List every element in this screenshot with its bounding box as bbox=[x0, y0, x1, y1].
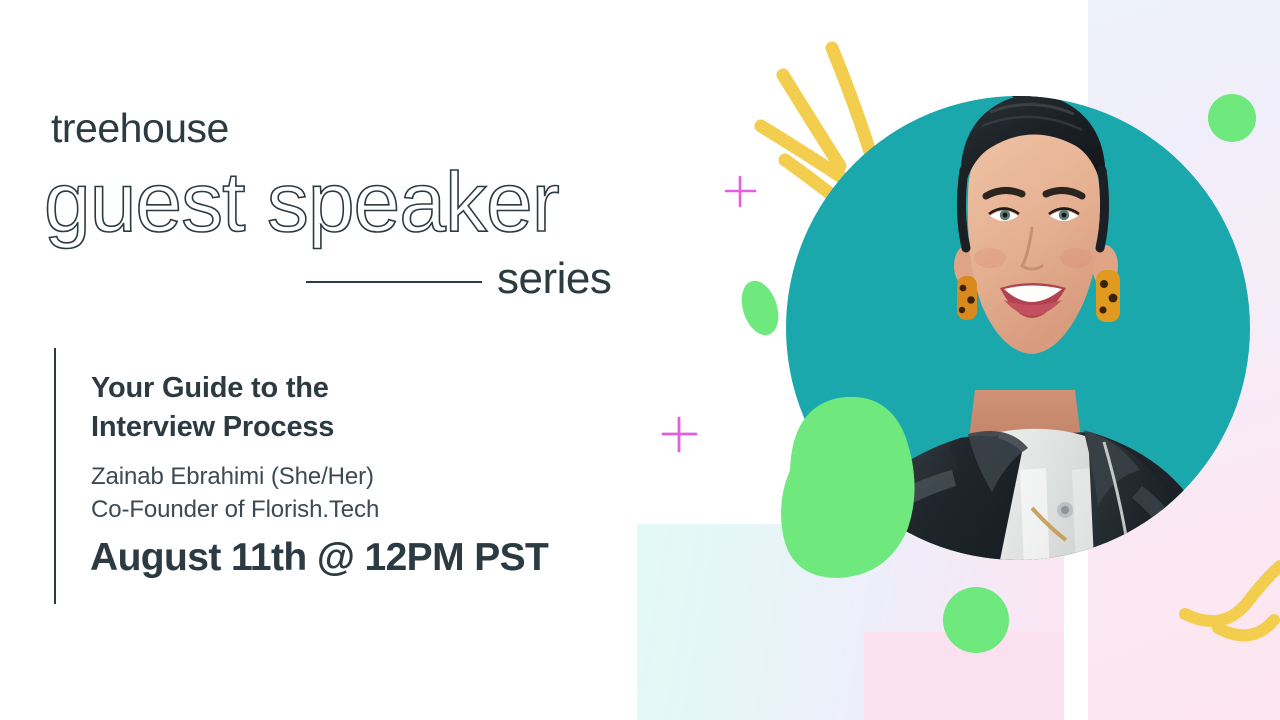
earring-left bbox=[957, 276, 977, 320]
yellow-ray-decor-top bbox=[761, 48, 872, 208]
vertical-accent-rule bbox=[54, 348, 56, 604]
speaker-name: Zainab Ebrahimi (She/Her) bbox=[91, 461, 374, 494]
promo-slide: treehouse guest speaker series Your Guid… bbox=[0, 0, 1280, 720]
session-title-line-1: Your Guide to the bbox=[91, 369, 611, 408]
session-title-line-2: Interview Process bbox=[91, 408, 611, 447]
event-datetime: August 11th @ 12PM PST bbox=[90, 537, 548, 580]
plus-mark-upper bbox=[726, 177, 755, 206]
gradient-panel-right bbox=[1088, 0, 1280, 720]
session-title: Your Guide to the Interview Process bbox=[91, 369, 611, 448]
speaker-role: Co-Founder of Florish.Tech bbox=[91, 494, 379, 527]
series-divider-rule bbox=[306, 281, 482, 283]
green-blob-small bbox=[735, 276, 785, 340]
plus-mark-lower bbox=[663, 418, 696, 451]
brand-wordmark: treehouse bbox=[51, 108, 229, 149]
headline-outline-text: guest speaker bbox=[44, 160, 559, 246]
pink-panel-bottom bbox=[864, 632, 1064, 720]
series-label: series bbox=[497, 257, 611, 301]
